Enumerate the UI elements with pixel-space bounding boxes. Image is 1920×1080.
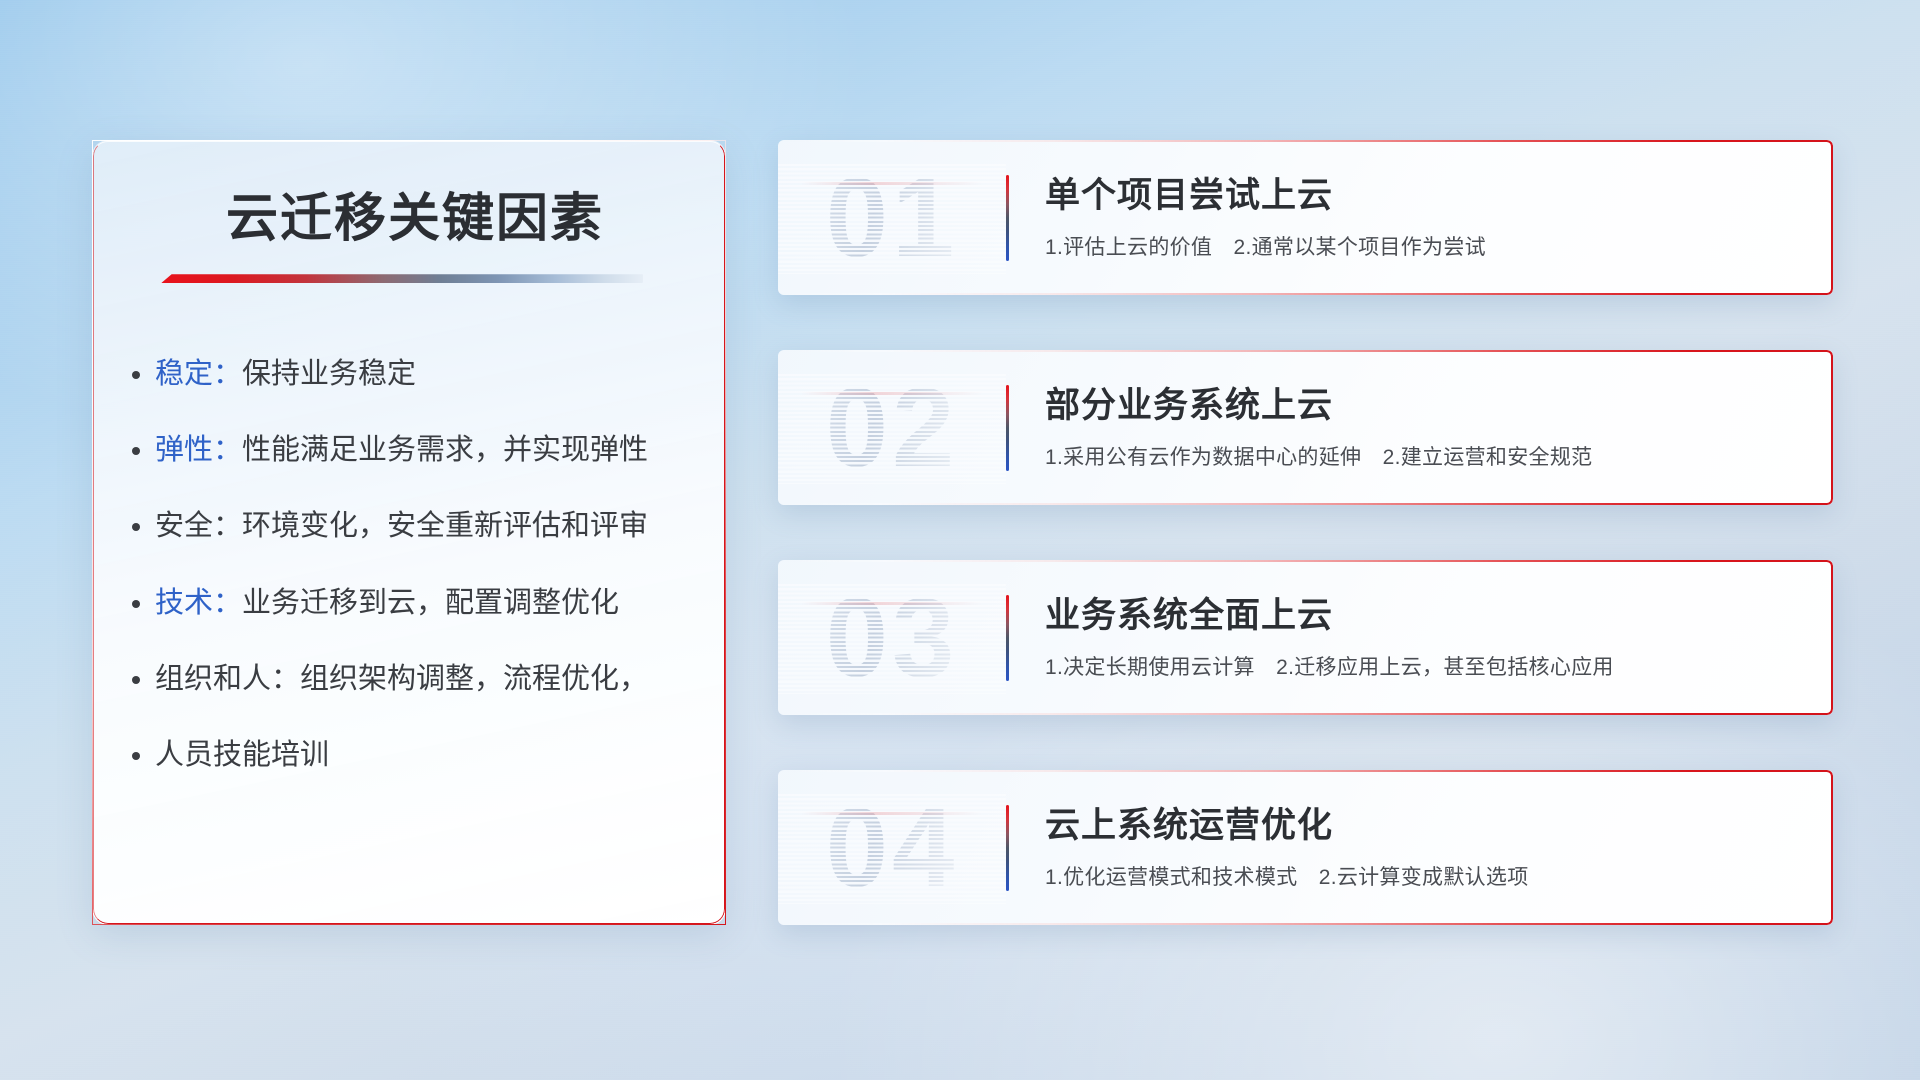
step-body: 单个项目尝试上云 1.评估上云的价值 2.通常以某个项目作为尝试 (1045, 175, 1833, 261)
list-item-text: 保持业务稳定 (242, 358, 416, 390)
key-factors-card: 云迁移关键因素 稳定：保持业务稳定 弹性：性能满足业务需求，并实现弹性 安全：环… (92, 140, 726, 925)
list-item-text: 性能满足业务需求，并实现弹性 (242, 434, 648, 466)
page-title: 云迁移关键因素 (155, 191, 669, 248)
list-item-key: 安全： (155, 510, 242, 542)
list-item-key: 稳定： (155, 358, 242, 390)
step-title: 业务系统全面上云 (1045, 595, 1803, 637)
list-item-text: 组织架构调整，流程优化， (300, 663, 648, 695)
list-item: 组织和人：组织架构调整，流程优化， (155, 660, 669, 699)
list-item: 弹性：性能满足业务需求，并实现弹性 (155, 431, 669, 470)
step-title: 部分业务系统上云 (1045, 385, 1803, 427)
step-divider-bar (1006, 385, 1009, 471)
list-item: 安全：环境变化，安全重新评估和评审 (155, 507, 669, 546)
step-card-04[interactable]: 04 云上系统运营优化 1.优化运营模式和技术模式 2.云计算变成默认选项 (778, 770, 1833, 925)
step-divider-bar (1006, 805, 1009, 891)
step-number-text: 04 (826, 792, 959, 904)
step-body: 业务系统全面上云 1.决定长期使用云计算 2.迁移应用上云，甚至包括核心应用 (1045, 595, 1833, 681)
list-item: 技术：业务迁移到云，配置调整优化 (155, 584, 669, 623)
list-item-text: 人员技能培训 (155, 739, 329, 771)
key-factors-card-inner: 云迁移关键因素 稳定：保持业务稳定 弹性：性能满足业务需求，并实现弹性 安全：环… (93, 141, 725, 775)
list-item-key: 弹性： (155, 434, 242, 466)
step-divider-bar (1006, 595, 1009, 681)
list-item-text: 业务迁移到云，配置调整优化 (242, 587, 619, 619)
key-factors-list: 稳定：保持业务稳定 弹性：性能满足业务需求，并实现弹性 安全：环境变化，安全重新… (155, 355, 669, 775)
step-card-02[interactable]: 02 部分业务系统上云 1.采用公有云作为数据中心的延伸 2.建立运营和安全规范 (778, 350, 1833, 505)
step-number-badge: 02 (778, 372, 1006, 484)
step-subtitle: 1.决定长期使用云计算 2.迁移应用上云，甚至包括核心应用 (1045, 651, 1803, 681)
step-card-01[interactable]: 01 单个项目尝试上云 1.评估上云的价值 2.通常以某个项目作为尝试 (778, 140, 1833, 295)
step-subtitle: 1.优化运营模式和技术模式 2.云计算变成默认选项 (1045, 861, 1803, 891)
slide-stage: 云迁移关键因素 稳定：保持业务稳定 弹性：性能满足业务需求，并实现弹性 安全：环… (0, 0, 1920, 1080)
list-item: 人员技能培训 (155, 736, 669, 775)
step-title: 云上系统运营优化 (1045, 805, 1803, 847)
step-subtitle: 1.评估上云的价值 2.通常以某个项目作为尝试 (1045, 231, 1803, 261)
list-item-key: 技术： (155, 587, 242, 619)
step-number-badge: 03 (778, 582, 1006, 694)
step-title: 单个项目尝试上云 (1045, 175, 1803, 217)
list-item: 稳定：保持业务稳定 (155, 355, 669, 394)
list-item-text: 环境变化，安全重新评估和评审 (242, 510, 648, 542)
step-number-text: 02 (826, 372, 959, 484)
step-body: 部分业务系统上云 1.采用公有云作为数据中心的延伸 2.建立运营和安全规范 (1045, 385, 1833, 471)
step-number-text: 03 (826, 582, 959, 694)
step-number-badge: 04 (778, 792, 1006, 904)
step-body: 云上系统运营优化 1.优化运营模式和技术模式 2.云计算变成默认选项 (1045, 805, 1833, 891)
list-item-key: 组织和人： (155, 663, 300, 695)
title-underline-rule (161, 274, 643, 283)
step-number-text: 01 (826, 162, 959, 274)
step-card-03[interactable]: 03 业务系统全面上云 1.决定长期使用云计算 2.迁移应用上云，甚至包括核心应… (778, 560, 1833, 715)
migration-steps-column: 01 单个项目尝试上云 1.评估上云的价值 2.通常以某个项目作为尝试 02 部… (778, 140, 1833, 925)
step-number-badge: 01 (778, 162, 1006, 274)
step-subtitle: 1.采用公有云作为数据中心的延伸 2.建立运营和安全规范 (1045, 441, 1803, 471)
step-divider-bar (1006, 175, 1009, 261)
